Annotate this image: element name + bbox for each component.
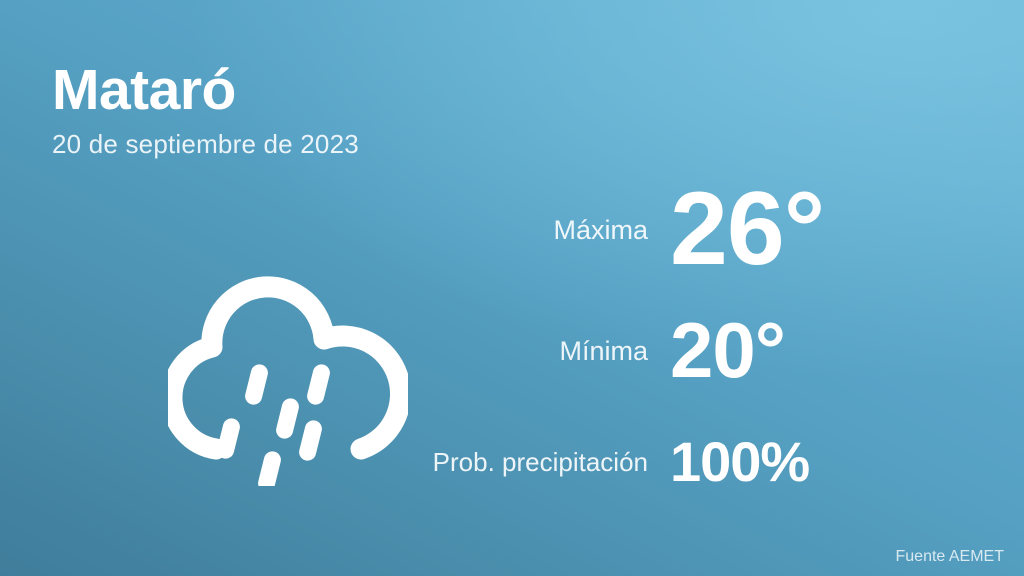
reading-label-precipitation: Prob. precipitación (408, 447, 670, 478)
weather-card: Mataró 20 de septiembre de 2023 Máxima 2… (0, 0, 1024, 576)
readings-list: Máxima 26° Mínima 20° Prob. precipitació… (408, 168, 938, 514)
city-name: Mataró (52, 62, 672, 119)
reading-row-minima: Mínima 20° (408, 292, 938, 410)
reading-value-maxima: 26° (670, 182, 938, 278)
reading-value-minima: 20° (670, 315, 938, 387)
reading-label-minima: Mínima (408, 336, 670, 367)
forecast-date: 20 de septiembre de 2023 (52, 119, 672, 157)
reading-row-precipitation: Prob. precipitación 100% (408, 410, 938, 514)
reading-label-maxima: Máxima (408, 215, 670, 246)
reading-row-maxima: Máxima 26° (408, 168, 938, 292)
location-header: Mataró 20 de septiembre de 2023 (52, 62, 672, 157)
data-source-attribution: Fuente AEMET (896, 548, 1005, 566)
rain-cloud-icon (168, 246, 408, 486)
reading-value-precipitation: 100% (670, 436, 938, 488)
